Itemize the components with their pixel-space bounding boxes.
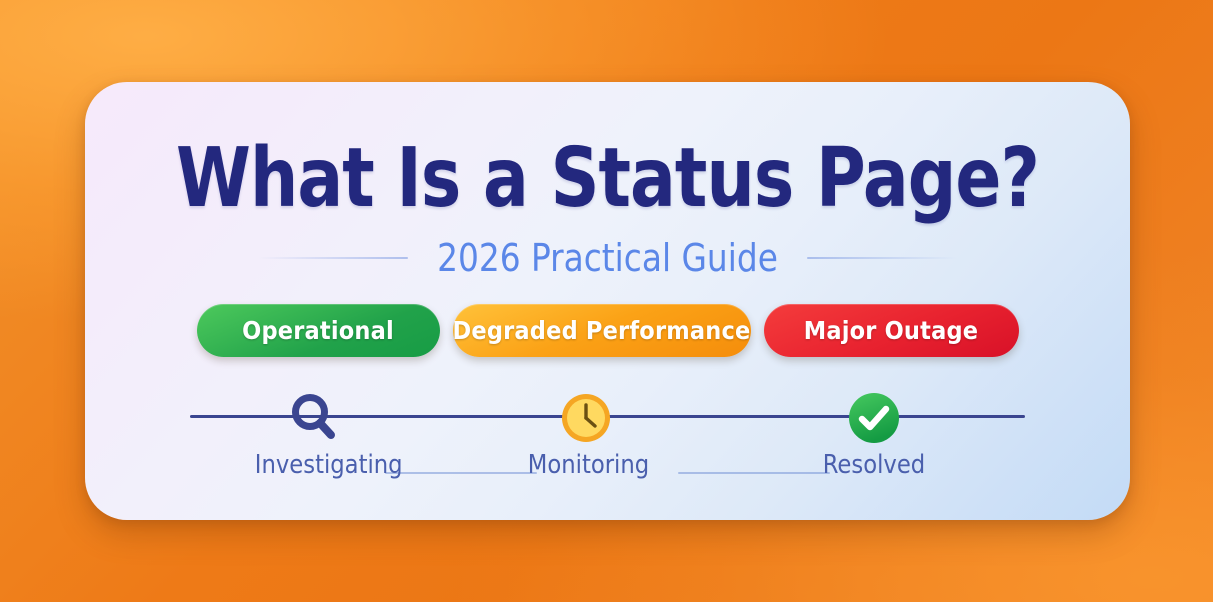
subtitle-rule-left xyxy=(258,257,408,259)
status-page-card: What Is a Status Page? 2026 Practical Gu… xyxy=(85,82,1130,520)
timeline-step-label: Investigating xyxy=(255,450,371,480)
timeline-step-label: Resolved xyxy=(816,450,932,480)
timeline-icon-wrap xyxy=(253,392,373,444)
timeline-icon-wrap xyxy=(526,392,646,444)
timeline-step-label: Monitoring xyxy=(528,450,644,480)
poster-canvas: What Is a Status Page? 2026 Practical Gu… xyxy=(0,0,1213,602)
status-badge-outage[interactable]: Major Outage xyxy=(764,304,1019,357)
incident-timeline: Investigating Monitoring xyxy=(85,392,1130,502)
clock-icon xyxy=(561,393,611,443)
page-subtitle: 2026 Practical Guide xyxy=(437,237,778,279)
magnifier-icon xyxy=(286,391,340,445)
label-rule-2 xyxy=(678,472,830,474)
subtitle-row: 2026 Practical Guide xyxy=(85,237,1130,279)
status-badge-degraded[interactable]: Degraded Performance xyxy=(453,304,751,357)
status-badge-label: Degraded Performance xyxy=(453,316,751,345)
timeline-step-monitoring[interactable]: Monitoring xyxy=(526,392,646,480)
timeline-step-resolved[interactable]: Resolved xyxy=(814,392,934,480)
subtitle-rule-right xyxy=(807,257,957,259)
timeline-icon-wrap xyxy=(814,392,934,444)
status-badge-label: Major Outage xyxy=(804,316,978,345)
label-rule-1 xyxy=(385,472,537,474)
status-badge-operational[interactable]: Operational xyxy=(197,304,440,357)
check-circle-icon xyxy=(848,392,900,444)
status-badge-group: Operational Degraded Performance Major O… xyxy=(85,304,1130,357)
status-badge-label: Operational xyxy=(242,316,394,345)
page-title: What Is a Status Page? xyxy=(127,137,1088,221)
timeline-step-investigating[interactable]: Investigating xyxy=(253,392,373,480)
